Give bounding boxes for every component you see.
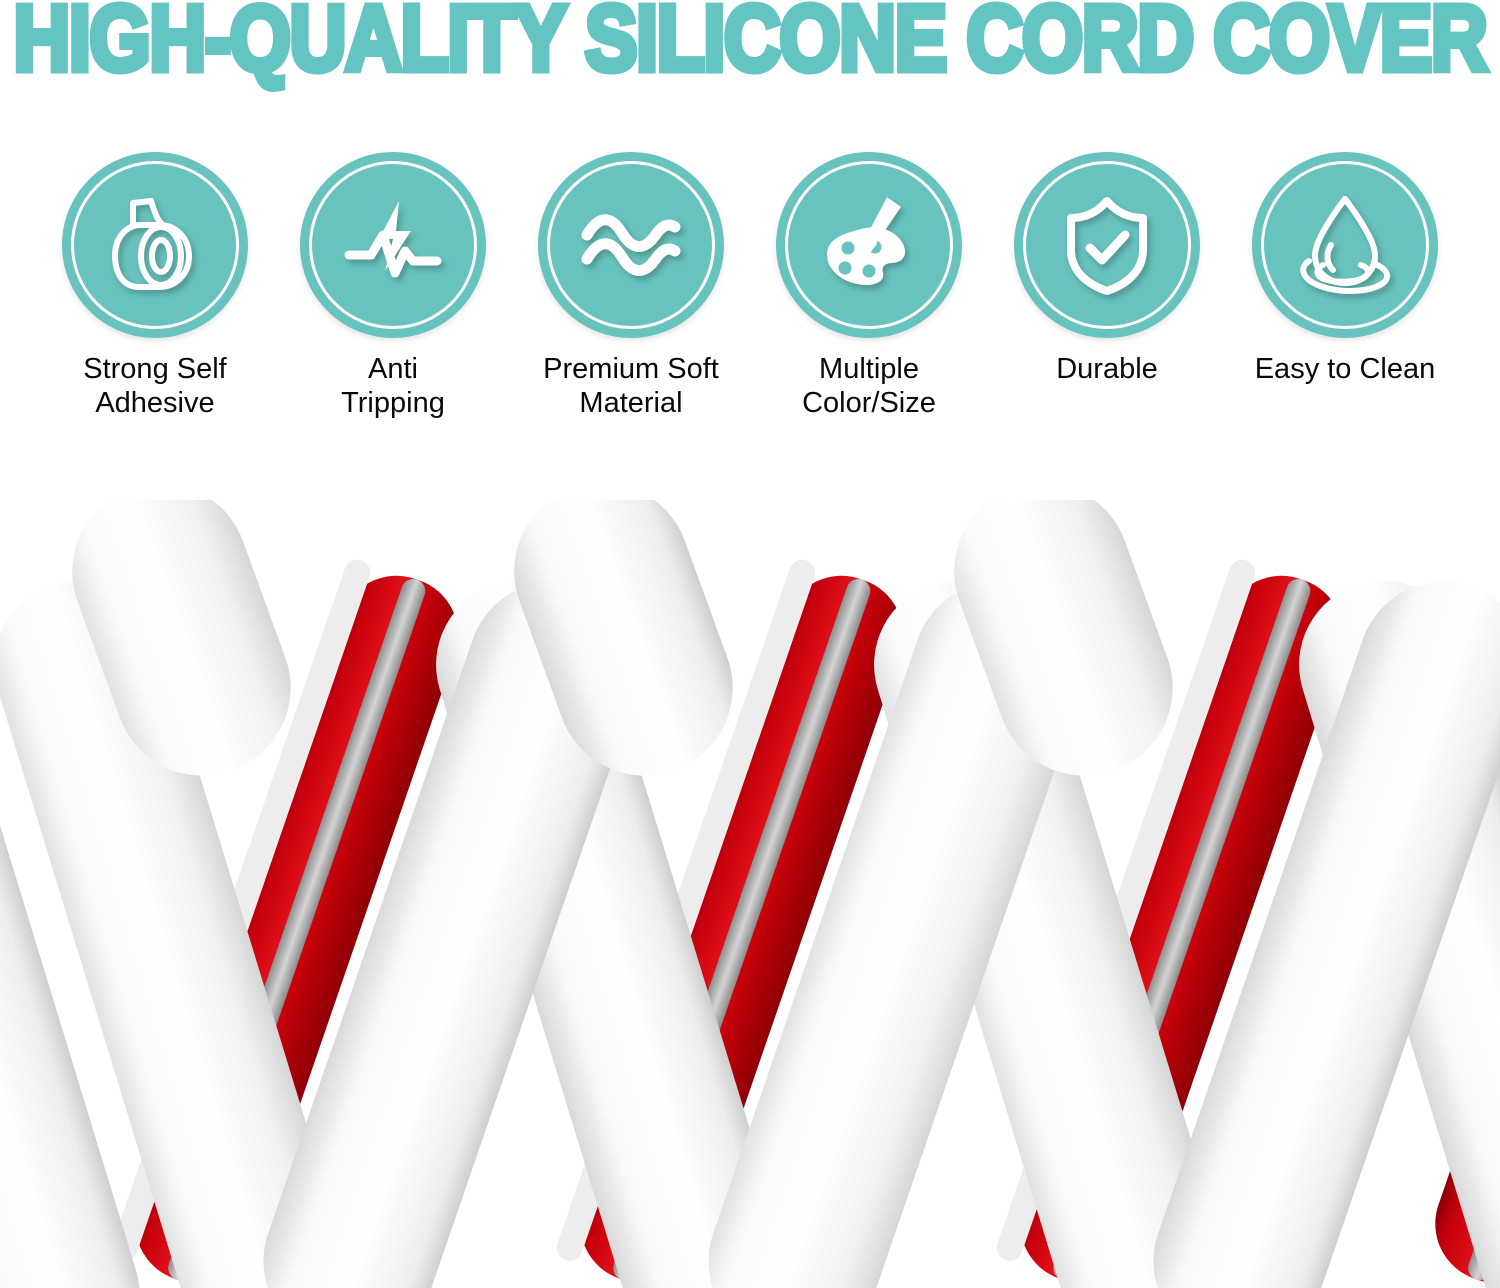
feature-anti-tripping: Anti Tripping xyxy=(300,152,486,452)
paint-palette-icon xyxy=(776,152,962,338)
shield-check-icon xyxy=(1014,152,1200,338)
feature-highlights-row: Strong Self Adhesive Anti Tripping xyxy=(0,152,1500,452)
page-title: HIGH-QUALITY SILICONE CORD COVER xyxy=(13,0,1486,78)
feature-premium-soft-material: Premium Soft Material xyxy=(538,152,724,452)
feature-label: Anti Tripping xyxy=(341,352,445,420)
tape-roll-icon xyxy=(62,152,248,338)
feature-multiple-color-size: Multiple Color/Size xyxy=(776,152,962,452)
product-marketing-image: HIGH-QUALITY SILICONE CORD COVER Strong … xyxy=(0,0,1500,1288)
feature-badge-circle xyxy=(1014,152,1200,338)
feature-label: Strong Self Adhesive xyxy=(83,352,226,420)
feature-badge-circle xyxy=(776,152,962,338)
feature-label: Premium Soft Material xyxy=(543,352,719,420)
feature-easy-to-clean: Easy to Clean xyxy=(1252,152,1438,452)
feature-strong-self-adhesive: Strong Self Adhesive xyxy=(62,152,248,452)
feature-label: Multiple Color/Size xyxy=(802,352,936,420)
feature-label: Easy to Clean xyxy=(1255,352,1436,386)
product-photo-coiled-cord-cover xyxy=(0,500,1500,1288)
coiled-cord-cover-illustration xyxy=(0,500,1500,1288)
title-banner: HIGH-QUALITY SILICONE CORD COVER xyxy=(0,0,1500,95)
wavy-lines-icon xyxy=(538,152,724,338)
feature-durable: Durable xyxy=(1014,152,1200,452)
feature-badge-circle xyxy=(1252,152,1438,338)
feature-badge-circle xyxy=(62,152,248,338)
feature-badge-circle xyxy=(300,152,486,338)
feature-badge-circle xyxy=(538,152,724,338)
lightning-pulse-icon xyxy=(300,152,486,338)
feature-label: Durable xyxy=(1056,352,1158,386)
water-drop-icon xyxy=(1252,152,1438,338)
